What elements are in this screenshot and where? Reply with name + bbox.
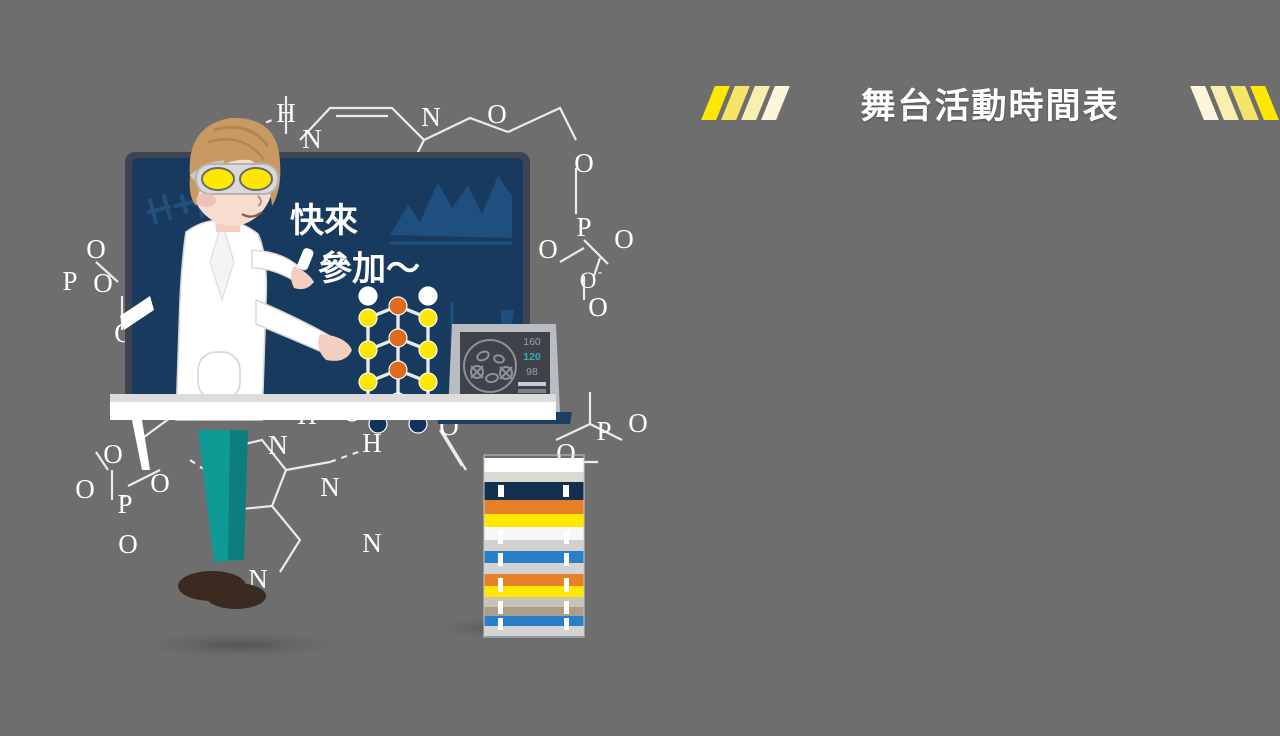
science-illustration: H N N O O P O O - O O O P O O P O - O O … — [0, 0, 700, 736]
svg-text:O: O — [86, 234, 106, 264]
laptop-readout-1: 120 — [523, 351, 541, 363]
page-title: 舞台活動時間表 — [783, 78, 1197, 129]
board-text-line2: 參加～ — [318, 250, 420, 288]
svg-text:O: O — [118, 529, 138, 559]
laptop-readout-2: 98 — [526, 366, 538, 378]
svg-text:P: P — [596, 416, 611, 446]
svg-text:P: P — [62, 266, 77, 296]
svg-text:O: O — [614, 224, 634, 254]
svg-text:O: O — [538, 234, 558, 264]
svg-text:O: O — [588, 292, 608, 322]
svg-text:-: - — [598, 265, 603, 280]
svg-text:N: N — [421, 102, 441, 132]
svg-text:O: O — [103, 439, 123, 469]
floor-shadow — [120, 629, 360, 661]
book-stack — [484, 455, 584, 637]
safety-goggles — [196, 164, 278, 194]
svg-text:O: O — [75, 474, 95, 504]
svg-text:-: - — [122, 489, 127, 504]
decor-slashes-right — [1197, 86, 1272, 120]
svg-text:N: N — [320, 472, 340, 502]
svg-text:N: N — [302, 124, 322, 154]
decor-slashes-left — [708, 86, 783, 120]
schedule-panel: 舞台活動時間表 日期 時間 11/16(五) — [700, 0, 1280, 736]
svg-text:N: N — [362, 528, 382, 558]
svg-text:H: H — [276, 98, 296, 128]
svg-text:O: O — [580, 268, 597, 293]
svg-text:N: N — [268, 430, 288, 460]
svg-text:O: O — [93, 268, 113, 298]
board-text-line1: 快來 — [290, 202, 358, 240]
svg-text:P: P — [576, 212, 591, 242]
svg-text:O: O — [628, 408, 648, 438]
laptop-readout-0: 160 — [523, 336, 541, 348]
svg-text:O: O — [574, 148, 594, 178]
svg-text:O: O — [150, 468, 170, 498]
title-row: 舞台活動時間表 — [708, 72, 1272, 134]
svg-text:O: O — [487, 99, 507, 129]
